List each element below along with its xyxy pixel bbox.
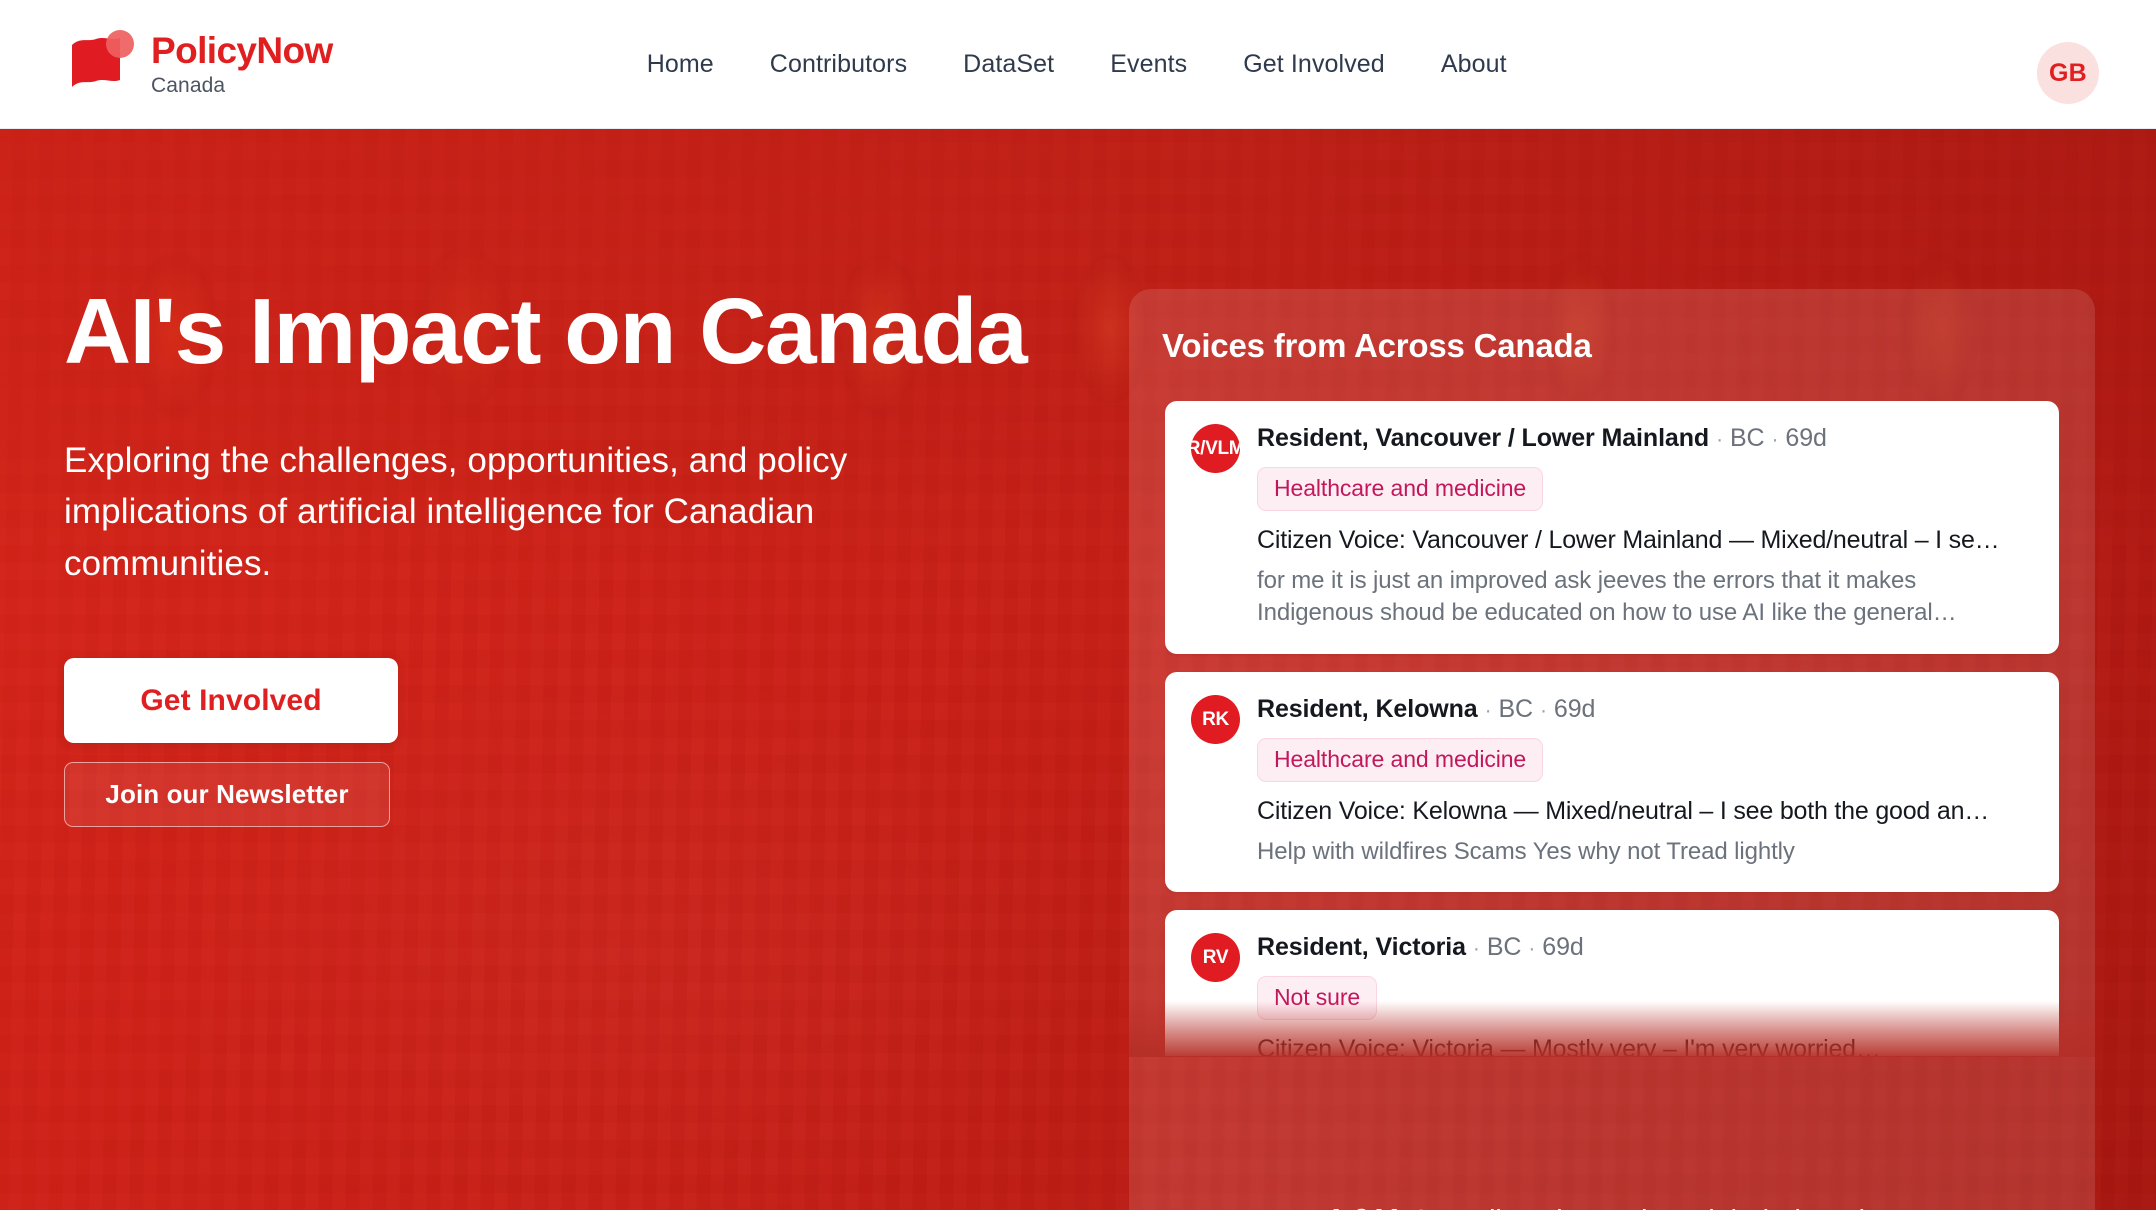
- voice-topic-tag[interactable]: Healthcare and medicine: [1257, 467, 1543, 511]
- hero-cta-group: Get Involved Join our Newsletter: [64, 658, 1064, 827]
- meta-separator: ·: [1716, 428, 1723, 451]
- meta-separator: ·: [1485, 699, 1492, 722]
- voice-snippet: Help with wildfires Scams Yes why not Tr…: [1257, 836, 2033, 869]
- voice-card[interactable]: RK Resident, Kelowna·BC·69d Healthcare a…: [1165, 672, 2059, 892]
- voice-author: Resident, Kelowna: [1257, 695, 1478, 723]
- hero-content: AI's Impact on Canada Exploring the chal…: [64, 283, 1064, 827]
- hero-section: AI's Impact on Canada Exploring the chal…: [0, 129, 2156, 1210]
- hero-subtitle: Exploring the challenges, opportunities,…: [64, 435, 1004, 590]
- voices-count-number: 1,011: [1327, 1202, 1402, 1210]
- voice-author: Resident, Vancouver / Lower Mainland: [1257, 424, 1709, 452]
- voice-card-body: Resident, Vancouver / Lower Mainland·BC·…: [1257, 424, 2033, 630]
- voice-headline: Citizen Voice: Kelowna — Mixed/neutral –…: [1257, 796, 2033, 827]
- nav-item-home[interactable]: Home: [619, 40, 742, 89]
- voice-card-body: Resident, Victoria·BC·69d Not sure Citiz…: [1257, 933, 2033, 1056]
- voice-meta: Resident, Victoria·BC·69d: [1257, 933, 2033, 963]
- voice-snippet: for me it is just an improved ask jeeves…: [1257, 565, 2033, 630]
- meta-separator: ·: [1528, 937, 1535, 960]
- voice-region: BC: [1487, 933, 1522, 961]
- join-newsletter-button[interactable]: Join our Newsletter: [64, 762, 390, 827]
- meta-separator: ·: [1540, 699, 1547, 722]
- voices-list[interactable]: R/VLM Resident, Vancouver / Lower Mainla…: [1165, 401, 2059, 1056]
- meta-separator: ·: [1772, 428, 1779, 451]
- voice-card-header: RK Resident, Kelowna·BC·69d Healthcare a…: [1191, 695, 2033, 868]
- voice-region: BC: [1730, 424, 1765, 452]
- voice-avatar: RK: [1191, 695, 1240, 744]
- voice-topic-tag[interactable]: Not sure: [1257, 976, 1377, 1020]
- voices-count-label: Canadians have shared their thoughts: [1410, 1205, 1897, 1210]
- voice-author: Resident, Victoria: [1257, 933, 1466, 961]
- voice-card-body: Resident, Kelowna·BC·69d Healthcare and …: [1257, 695, 2033, 868]
- voice-age: 69d: [1554, 695, 1595, 723]
- nav-item-dataset[interactable]: DataSet: [935, 40, 1082, 89]
- voice-card-header: R/VLM Resident, Vancouver / Lower Mainla…: [1191, 424, 2033, 630]
- site-header: PolicyNow Canada Home Contributors DataS…: [0, 0, 2156, 129]
- voice-region: BC: [1498, 695, 1533, 723]
- get-involved-button[interactable]: Get Involved: [64, 658, 398, 743]
- voice-meta: Resident, Vancouver / Lower Mainland·BC·…: [1257, 424, 2033, 454]
- voices-count: 1,011 Canadians have shared their though…: [1129, 1202, 2095, 1210]
- voices-panel-title: Voices from Across Canada: [1162, 327, 2095, 365]
- hero-title: AI's Impact on Canada: [64, 283, 1064, 381]
- main-nav: Home Contributors DataSet Events Get Inv…: [619, 40, 1535, 89]
- voice-card-header: RV Resident, Victoria·BC·69d Not sure Ci…: [1191, 933, 2033, 1056]
- voice-age: 69d: [1785, 424, 1826, 452]
- nav-item-about[interactable]: About: [1413, 40, 1535, 89]
- brand-subtitle: Canada: [151, 75, 333, 96]
- voice-meta: Resident, Kelowna·BC·69d: [1257, 695, 2033, 725]
- voice-card[interactable]: RV Resident, Victoria·BC·69d Not sure Ci…: [1165, 910, 2059, 1056]
- voice-avatar: RV: [1191, 933, 1240, 982]
- voice-topic-tag[interactable]: Healthcare and medicine: [1257, 738, 1543, 782]
- voice-headline: Citizen Voice: Vancouver / Lower Mainlan…: [1257, 525, 2033, 556]
- voice-card[interactable]: R/VLM Resident, Vancouver / Lower Mainla…: [1165, 401, 2059, 654]
- meta-separator: ·: [1473, 937, 1480, 960]
- voices-panel: Voices from Across Canada R/VLM Resident…: [1129, 289, 2095, 1210]
- brand-logo[interactable]: PolicyNow Canada: [66, 28, 333, 100]
- map-flag-icon: [66, 28, 134, 100]
- nav-item-get-involved[interactable]: Get Involved: [1215, 40, 1413, 89]
- voice-age: 69d: [1542, 933, 1583, 961]
- voice-avatar: R/VLM: [1191, 424, 1240, 473]
- nav-item-contributors[interactable]: Contributors: [742, 40, 935, 89]
- brand-title: PolicyNow: [151, 32, 333, 71]
- user-avatar[interactable]: GB: [2037, 42, 2099, 104]
- nav-item-events[interactable]: Events: [1082, 40, 1215, 89]
- voice-headline: Citizen Voice: Victoria — Mostly very – …: [1257, 1034, 2033, 1056]
